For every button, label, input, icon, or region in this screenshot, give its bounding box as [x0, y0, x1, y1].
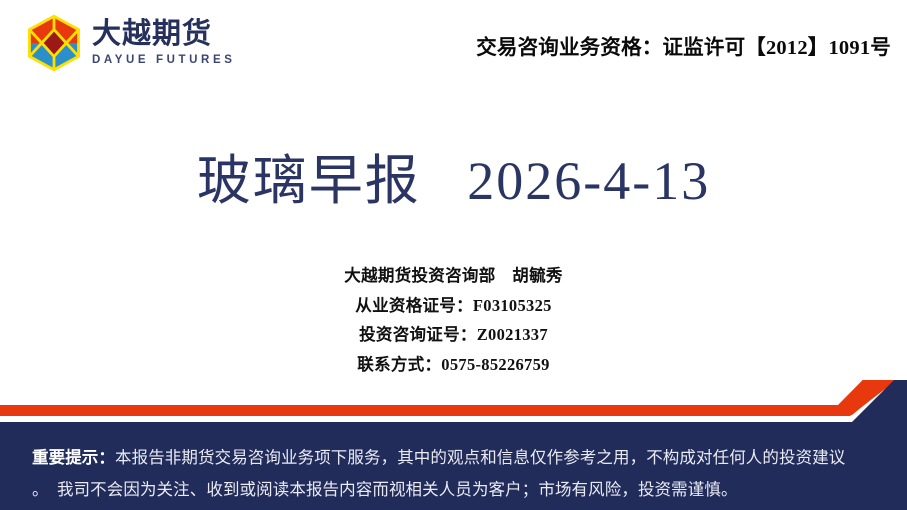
- brand-logo-text: 大越期货 DAYUE FUTURES: [92, 20, 236, 66]
- disclaimer-line-2: 。 我司不会因为关注、收到或阅读本报告内容而视相关人员为客户；市场有风险，投资需…: [32, 474, 885, 506]
- title-row: 玻璃早报 2026-4-13: [0, 136, 907, 215]
- analyst-contact-block: 大越期货投资咨询部 胡毓秀 从业资格证号：F03105325 投资咨询证号：Z0…: [0, 268, 907, 373]
- dayue-hexagon-logo-icon: [26, 14, 82, 72]
- important-disclaimer: 重要提示：本报告非期货交易咨询业务项下服务，其中的观点和信息仅作参考之用，不构成…: [0, 432, 907, 510]
- page-title: 玻璃早报 2026-4-13: [197, 136, 710, 215]
- contact-department-analyst: 大越期货投资咨询部 胡毓秀: [0, 268, 907, 285]
- contact-practice-certificate: 从业资格证号：F03105325: [0, 298, 907, 315]
- disclaimer-text-1: 本报告非期货交易咨询业务项下服务，其中的观点和信息仅作参考之用，不构成对任何人的…: [115, 448, 845, 467]
- disclaimer-line-1: 重要提示：本报告非期货交易咨询业务项下服务，其中的观点和信息仅作参考之用，不构成…: [32, 442, 885, 474]
- brand-name-en: DAYUE FUTURES: [92, 54, 236, 66]
- contact-advisory-certificate: 投资咨询证号：Z0021337: [0, 327, 907, 344]
- brand-logo: 大越期货 DAYUE FUTURES: [26, 14, 236, 72]
- disclaimer-prefix: 重要提示：: [32, 448, 115, 467]
- report-cover-page: 大越期货 DAYUE FUTURES 交易咨询业务资格：证监许可【2012】10…: [0, 0, 907, 510]
- brand-name-cn: 大越期货: [92, 20, 236, 49]
- contact-phone: 联系方式：0575-85226759: [0, 357, 907, 374]
- page-header: 大越期货 DAYUE FUTURES 交易咨询业务资格：证监许可【2012】10…: [0, 0, 907, 92]
- qualification-statement: 交易咨询业务资格：证监许可【2012】1091号: [476, 30, 891, 60]
